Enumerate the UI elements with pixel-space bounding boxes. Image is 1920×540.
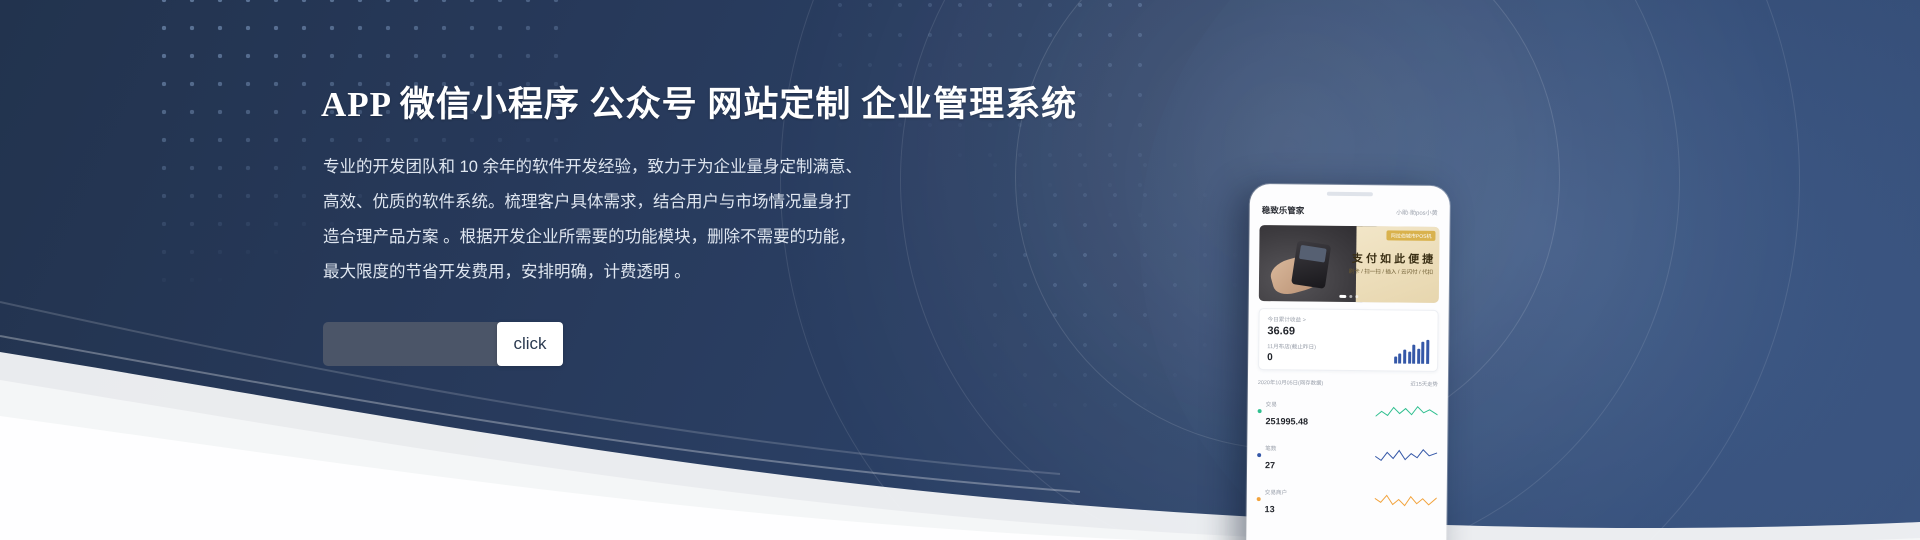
list-header-trend: 近15天走势 [1410, 380, 1438, 388]
phone-speaker [1327, 192, 1373, 196]
sparkline-chart [1375, 490, 1437, 511]
hero-banner: APP 微信小程序 公众号 网站定制 企业管理系统 专业的开发团队和 10 余年… [0, 0, 1920, 540]
pos-terminal-illustration [1291, 240, 1331, 289]
banner-subtext: 刷卡 / 扫一扫 / 插入 / 云闪付 / 代扣 [1349, 268, 1433, 277]
banner-headline: 支 付 如 此 便 捷 [1352, 250, 1433, 267]
list-item[interactable]: 交易商户 13 [1256, 477, 1436, 523]
app-banner-card[interactable]: 阿拉伯城市POS机 支 付 如 此 便 捷 刷卡 / 扫一扫 / 插入 / 云闪… [1259, 225, 1440, 303]
banner-text-area: 阿拉伯城市POS机 支 付 如 此 便 捷 刷卡 / 扫一扫 / 插入 / 云闪… [1356, 226, 1440, 303]
description-line: 高效、优质的软件系统。梳理客户具体需求，结合用户与市场情况量身打 [323, 185, 943, 220]
banner-badge: 阿拉伯城市POS机 [1387, 230, 1436, 241]
bar-chart-mini [1394, 339, 1429, 363]
banner-photo [1259, 225, 1362, 302]
list-header: 2020年10月05日(网存数据) 近15天走势 [1258, 378, 1438, 388]
phone-mockup: 稳致乐管家 小助·助pos小黄 阿拉伯城市POS机 支 付 如 此 便 捷 刷卡… [1246, 184, 1450, 540]
list-item-value: 27 [1265, 460, 1275, 470]
list-item[interactable]: 交易 251995.48 [1257, 389, 1437, 435]
app-header: 稳致乐管家 小助·助pos小黄 [1250, 184, 1450, 225]
list-item-label: 交易 [1266, 402, 1277, 408]
status-dot-icon [1258, 409, 1262, 413]
stat-label-today: 今日累计收益 > [1268, 315, 1430, 325]
description-line: 最大限度的节省开发费用，安排明确，计费透明 。 [323, 255, 943, 290]
status-dot-icon [1257, 497, 1261, 501]
list-item-label: 笔数 [1265, 446, 1276, 452]
app-title: 稳致乐管家 [1262, 204, 1305, 216]
description-line: 造合理产品方案 。根据开发企业所需要的功能模块，删除不需要的功能， [323, 220, 943, 255]
carousel-dots[interactable] [1339, 295, 1358, 298]
list-item-value: 251995.48 [1265, 416, 1308, 426]
cta-row: click [323, 322, 569, 366]
app-subtitle: 小助·助pos小黄 [1396, 207, 1438, 216]
list-item-label: 交易商户 [1265, 490, 1287, 496]
hero-content: APP 微信小程序 公众号 网站定制 企业管理系统 专业的开发团队和 10 余年… [321, 0, 1041, 540]
page-title: APP 微信小程序 公众号 网站定制 企业管理系统 [321, 76, 1077, 127]
status-dot-icon [1257, 453, 1261, 457]
stats-card[interactable]: 今日累计收益 > 36.69 11月布店(截止昨日) 0 [1258, 308, 1439, 372]
sparkline-chart [1375, 446, 1437, 467]
stat-value-today: 36.69 [1267, 325, 1429, 339]
search-input[interactable] [323, 322, 503, 366]
click-button[interactable]: click [497, 322, 563, 366]
hero-description: 专业的开发团队和 10 余年的软件开发经验，致力于为企业量身定制满意、 高效、优… [323, 150, 943, 290]
sparkline-chart [1376, 402, 1438, 423]
list-item[interactable]: 笔数 27 [1257, 433, 1437, 479]
description-line: 专业的开发团队和 10 余年的软件开发经验，致力于为企业量身定制满意、 [323, 150, 943, 185]
list-header-date: 2020年10月05日(网存数据) [1258, 378, 1323, 387]
list-item-value: 13 [1265, 504, 1275, 514]
